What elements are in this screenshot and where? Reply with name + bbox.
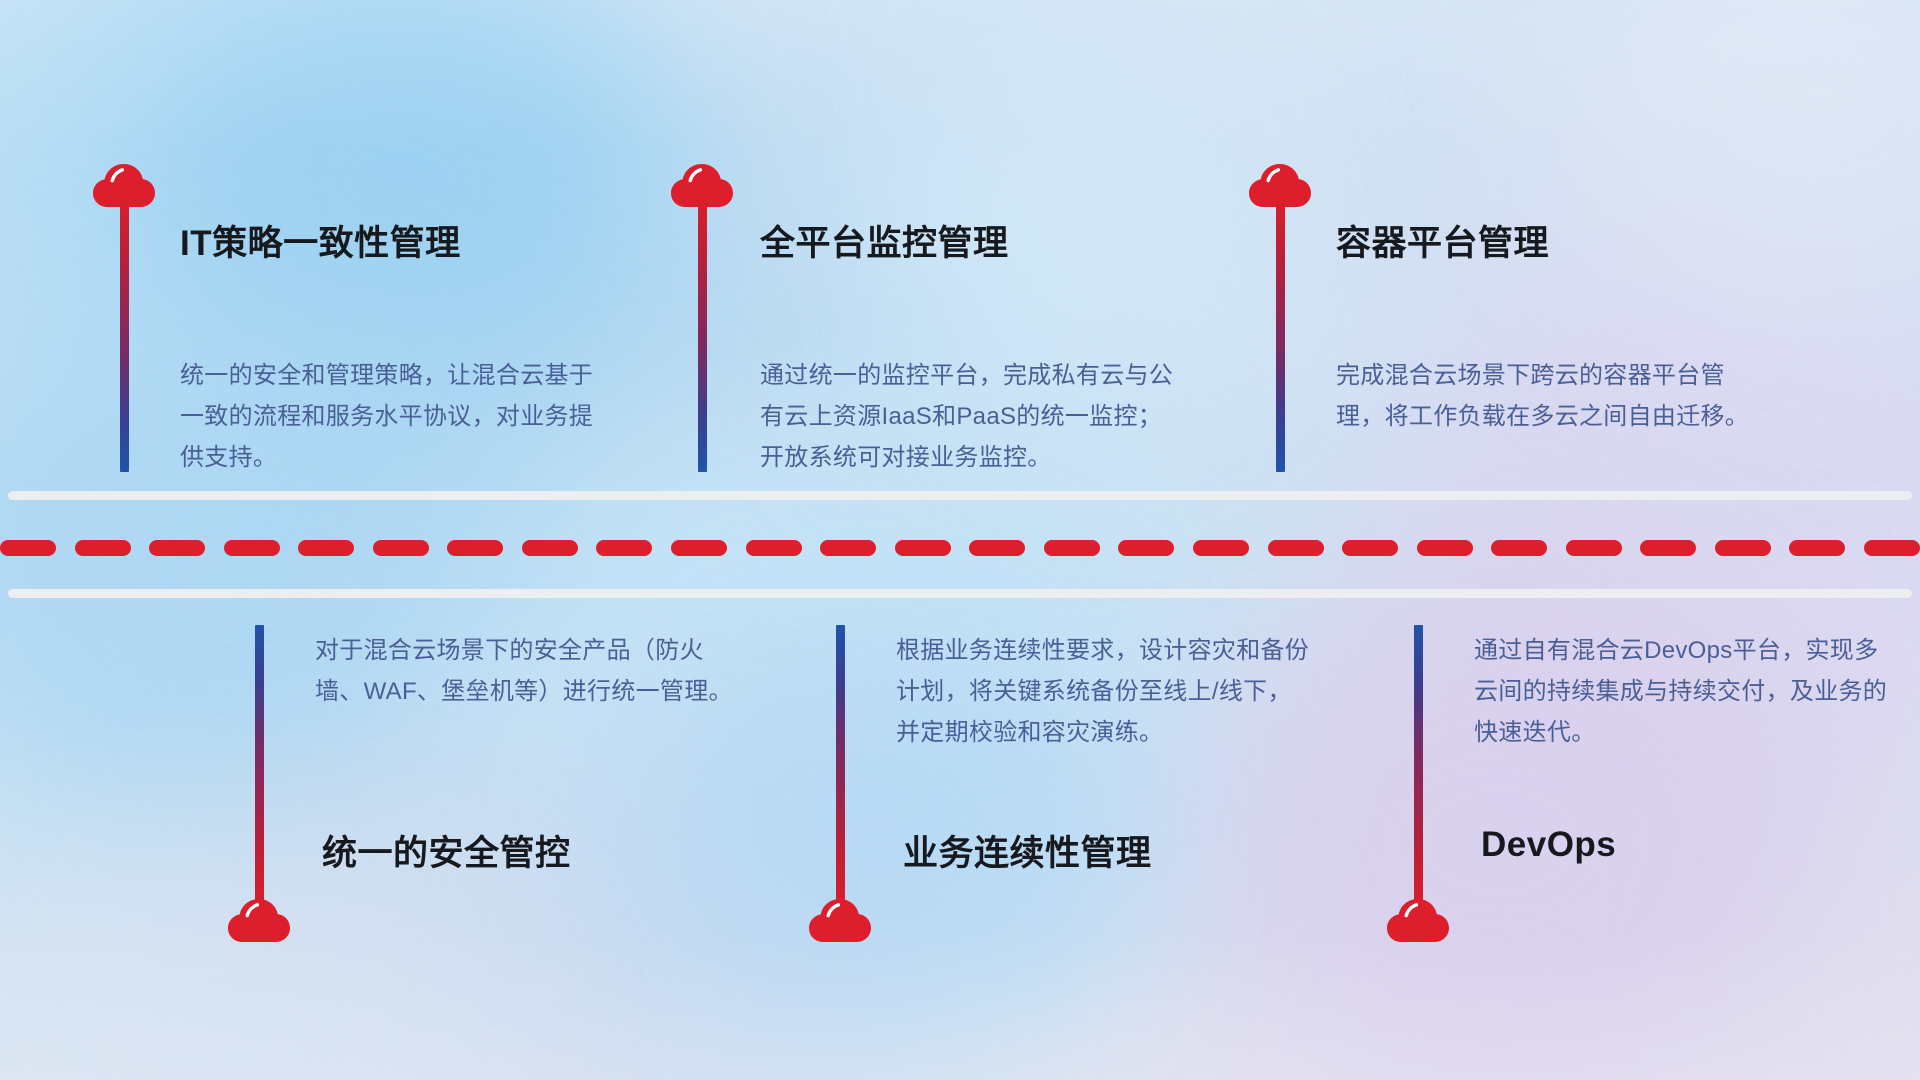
- divider-dash: [820, 540, 876, 556]
- divider-dash: [149, 540, 205, 556]
- divider-dash: [671, 540, 727, 556]
- card-title: 业务连续性管理: [903, 825, 1152, 876]
- divider-dash: [1118, 540, 1174, 556]
- divider-dash: [1044, 540, 1100, 556]
- divider-line-top: [8, 491, 1912, 500]
- card-title: IT策略一致性管理: [180, 215, 461, 266]
- divider-dash: [0, 540, 56, 556]
- divider-dash: [447, 540, 503, 556]
- connector-stem: [1276, 200, 1285, 472]
- card-title: 全平台监控管理: [760, 215, 1009, 266]
- card-body: 对于混合云场景下的安全产品（防火墙、WAF、堡垒机等）进行统一管理。: [315, 630, 735, 712]
- cloud-icon: [1386, 893, 1452, 943]
- divider-dash: [224, 540, 280, 556]
- divider-dash: [373, 540, 429, 556]
- card-body: 通过统一的监控平台，完成私有云与公有云上资源IaaS和PaaS的统一监控；开放系…: [760, 355, 1180, 478]
- divider-dash: [596, 540, 652, 556]
- divider-dash: [1417, 540, 1473, 556]
- divider-dash: [1566, 540, 1622, 556]
- divider-dash: [1193, 540, 1249, 556]
- infographic-stage: IT策略一致性管理 统一的安全和管理策略，让混合云基于一致的流程和服务水平协议，…: [0, 0, 1920, 1080]
- card-title: 容器平台管理: [1336, 215, 1549, 266]
- connector-stem: [120, 200, 129, 472]
- divider-dash: [1268, 540, 1324, 556]
- divider-dash: [522, 540, 578, 556]
- card-body: 完成混合云场景下跨云的容器平台管理，将工作负载在多云之间自由迁移。: [1336, 355, 1756, 437]
- divider-dash: [75, 540, 131, 556]
- cloud-icon: [808, 893, 874, 943]
- dashed-separator: [0, 540, 1920, 556]
- card-title: DevOps: [1481, 825, 1616, 865]
- card-title: 统一的安全管控: [322, 825, 571, 876]
- divider-dash: [1491, 540, 1547, 556]
- divider-dash: [1864, 540, 1920, 556]
- cloud-icon: [227, 893, 293, 943]
- divider-line-bottom: [8, 589, 1912, 598]
- connector-stem: [255, 625, 264, 905]
- card-body: 根据业务连续性要求，设计容灾和备份计划，将关键系统备份至线上/线下，并定期校验和…: [896, 630, 1316, 753]
- divider-dash: [746, 540, 802, 556]
- connector-stem: [698, 200, 707, 472]
- card-body: 统一的安全和管理策略，让混合云基于一致的流程和服务水平协议，对业务提供支持。: [180, 355, 600, 478]
- divider-dash: [1789, 540, 1845, 556]
- divider-dash: [1715, 540, 1771, 556]
- divider-dash: [298, 540, 354, 556]
- divider-dash: [895, 540, 951, 556]
- divider-dash: [1640, 540, 1696, 556]
- divider-dash: [1342, 540, 1398, 556]
- connector-stem: [1414, 625, 1423, 905]
- divider-dash: [969, 540, 1025, 556]
- card-body: 通过自有混合云DevOps平台，实现多云间的持续集成与持续交付，及业务的快速迭代…: [1474, 630, 1894, 753]
- connector-stem: [836, 625, 845, 905]
